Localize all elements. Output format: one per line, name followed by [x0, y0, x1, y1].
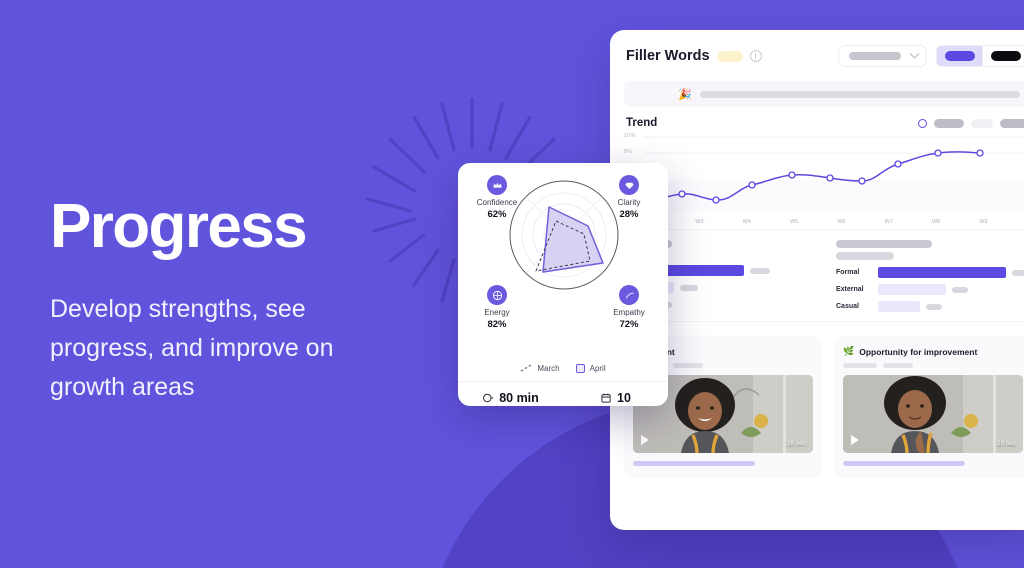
bar-fill	[878, 284, 946, 295]
skills-radar-card: Confidence 62% Clarity 28% Energy 8	[458, 163, 668, 406]
stat-meetings: 10 Total meetings	[563, 391, 668, 406]
right-group-heading-placeholder	[836, 240, 932, 248]
title-badge	[717, 51, 743, 62]
view-toggle-group[interactable]	[936, 45, 1024, 67]
bar-label-external: External	[836, 286, 872, 293]
metric-confidence: Confidence 62%	[466, 175, 528, 220]
hero-copy: Progress Develop strengths, see progress…	[50, 196, 410, 406]
crown-icon	[487, 175, 507, 195]
stat-talk-time: 80 min Total talk time	[458, 391, 563, 406]
dashboard-title-group: Filler Words	[626, 48, 762, 64]
video-duration: 28 sec	[787, 440, 806, 447]
party-popper-icon: 🎉	[678, 88, 692, 101]
trend-legend	[918, 119, 1024, 128]
bar-value-placeholder	[952, 287, 968, 293]
legend-item-march[interactable]: March	[520, 363, 559, 373]
video-thumbnail[interactable]: 28 sec	[843, 375, 1023, 453]
highlight-card[interactable]: 🌿 Opportunity for improvement	[834, 336, 1024, 478]
metric-name: Empathy	[598, 308, 660, 318]
bar-group-right: Formal External Casual	[816, 240, 1024, 315]
table-row: External	[836, 281, 1024, 298]
stat-value: 10	[617, 391, 631, 405]
radar-legend: March April	[458, 361, 668, 373]
radar-body: Confidence 62% Clarity 28% Energy 8	[458, 163, 668, 361]
metric-value: 28%	[598, 209, 660, 220]
bar-label-formal: Formal	[836, 269, 872, 276]
gem-icon	[619, 175, 639, 195]
legend-marker-icon	[918, 119, 927, 128]
toggle-chip-active	[945, 51, 975, 61]
banner-text-placeholder	[700, 91, 1020, 98]
legend-label: March	[537, 364, 559, 373]
table-row: Casual	[836, 298, 1024, 315]
stat-value: 80 min	[499, 391, 539, 405]
filter-select[interactable]	[838, 45, 927, 67]
x-tick-w5: W5	[790, 219, 798, 225]
metric-name: Confidence	[466, 198, 528, 208]
x-tick-w4: W4	[743, 219, 751, 225]
sub-skel	[843, 363, 877, 368]
calendar-icon	[600, 392, 612, 404]
metric-name: Clarity	[598, 198, 660, 208]
stat-top: 10	[563, 391, 668, 405]
play-icon[interactable]	[851, 435, 859, 445]
clock-icon	[482, 392, 494, 404]
dashboard-title: Filler Words	[626, 48, 710, 64]
filter-select-value	[849, 52, 901, 60]
metric-energy: Energy 82%	[466, 285, 528, 330]
dashboard-header: Filler Words	[610, 30, 1024, 77]
x-tick-w9: W9	[979, 219, 987, 225]
card-title: Opportunity for improvement	[859, 347, 977, 357]
page-title: Progress	[50, 196, 410, 258]
header-controls	[838, 45, 1024, 67]
view-toggle-option-2[interactable]	[983, 45, 1024, 67]
metric-name: Energy	[466, 308, 528, 318]
legend-label-2	[971, 119, 993, 128]
sub-skel	[883, 363, 913, 368]
trend-title: Trend	[626, 117, 657, 129]
bar-fill	[878, 267, 1006, 278]
toggle-chip-inactive	[991, 51, 1021, 61]
bar-value-placeholder	[926, 304, 942, 310]
filled-square-icon	[576, 364, 585, 373]
leaf-icon: 🌿	[843, 346, 854, 357]
metric-value: 72%	[598, 319, 660, 330]
card-subtitle-placeholder	[843, 363, 1023, 368]
x-tick-w6: W6	[837, 219, 845, 225]
card-progress-bar	[843, 461, 965, 466]
table-row: Formal	[836, 264, 1024, 281]
view-toggle-option-1[interactable]	[936, 45, 983, 67]
x-tick-w8: W8	[932, 219, 940, 225]
bar-fill	[878, 301, 920, 312]
legend-label-3	[1000, 119, 1024, 128]
play-icon[interactable]	[641, 435, 649, 445]
highlight-cards: 🌿 oment	[610, 321, 1024, 478]
right-group-subheading-placeholder	[836, 252, 894, 260]
metric-value: 62%	[466, 209, 528, 220]
x-tick-w3: W3	[695, 219, 703, 225]
celebration-banner: 🎉	[624, 81, 1024, 107]
radar-stats: 80 min Total talk time 10 Total meetings	[458, 381, 668, 406]
stat-top: 80 min	[458, 391, 563, 405]
bar-label-casual: Casual	[836, 303, 872, 310]
bar-value-placeholder	[750, 268, 770, 274]
card-progress-bar	[633, 461, 755, 466]
bar-comparison: Formal External Casual	[610, 229, 1024, 315]
energy-icon	[487, 285, 507, 305]
legend-label: April	[590, 364, 606, 373]
empathy-icon	[619, 285, 639, 305]
trend-x-axis: W2 W3 W4 W5 W6 W7 W8 W9 W10	[648, 219, 1024, 225]
dashed-line-icon	[520, 363, 532, 373]
promo-slide: Progress Develop strengths, see progress…	[0, 0, 1024, 568]
video-duration: 28 sec	[997, 440, 1016, 447]
trend-header: Trend	[610, 107, 1024, 131]
card-title-row: 🌿 Opportunity for improvement	[843, 346, 1023, 357]
metric-value: 82%	[466, 319, 528, 330]
bar-value-placeholder	[1012, 270, 1024, 276]
x-tick-w7: W7	[885, 219, 893, 225]
sub-skel	[673, 363, 703, 368]
bar-value-placeholder	[680, 285, 698, 291]
metric-empathy: Empathy 72%	[598, 285, 660, 330]
legend-label-1	[934, 119, 964, 128]
metric-clarity: Clarity 28%	[598, 175, 660, 220]
chevron-down-icon	[910, 48, 920, 58]
trend-line-svg	[610, 131, 1024, 227]
dashboard-panel: Filler Words 🎉	[610, 30, 1024, 530]
info-icon[interactable]	[750, 50, 762, 62]
trend-chart: 10% 8%	[610, 131, 1024, 227]
legend-item-april[interactable]: April	[576, 364, 606, 373]
hero-subtitle: Develop strengths, see progress, and imp…	[50, 290, 410, 406]
